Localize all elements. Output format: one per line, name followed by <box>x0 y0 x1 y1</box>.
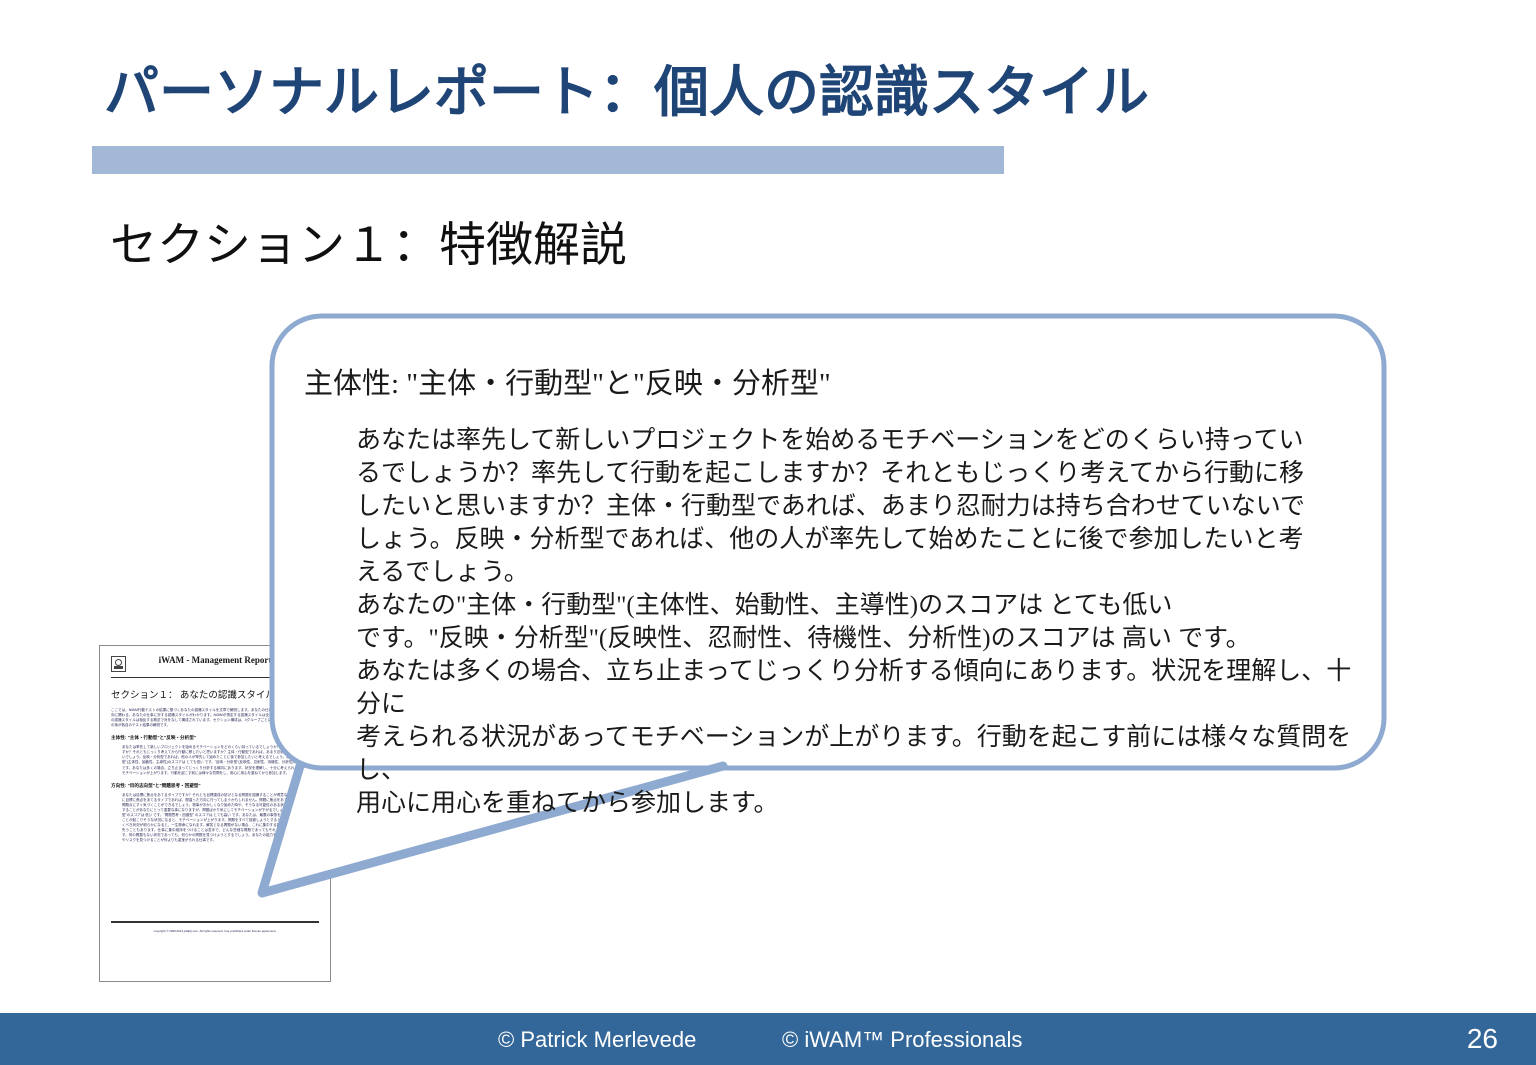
report-block2-body: あなたは目標に焦点をあてるタイプですか？それとも目標達成の妨げとなる問題を認識す… <box>111 793 319 844</box>
callout-line: あなたの"主体・行動型"(主体性、始動性、主導性)のスコアは とても低い <box>356 589 1366 622</box>
callout-line: しょう。反映・分析型であれば、他の人が率先して始めたことに後で参加したいと考 <box>356 523 1366 556</box>
callout-line: です。"反映・分析型"(反映性、忍耐性、待機性、分析性)のスコアは 高い です。 <box>356 622 1366 655</box>
callout-line: 用心に用心を重ねてから参加します。 <box>356 787 1366 820</box>
page-number: 26 <box>1467 1023 1498 1055</box>
report-block2-heading: 方向性: "目的志向型"と"問題思考・回避型" <box>111 783 319 789</box>
callout-line: えるでしょう。 <box>356 556 1366 589</box>
footer-copyright-left: © Patrick Merlevede <box>498 1027 696 1053</box>
report-footer-rule <box>111 921 319 923</box>
callout-line: したいと思いますか？主体・行動型であれば、あまり忍耐力は持ち合わせていないで <box>356 490 1366 523</box>
callout-line: るでしょうか？率先して行動を起こしますか？それともじっくり考えてから行動に移 <box>356 457 1366 490</box>
title-accent-bar <box>92 146 1004 174</box>
callout-paragraphs: あなたは率先して新しいプロジェクトを始めるモチベーションをどのくらい持ってい る… <box>356 424 1366 820</box>
callout-line: あなたは率先して新しいプロジェクトを始めるモチベーションをどのくらい持ってい <box>356 424 1366 457</box>
footer-copyright-right: © iWAM™ Professionals <box>782 1027 1022 1053</box>
callout-line: 考えられる状況があってモチベーションが上がります。行動を起こす前には様々な質問を… <box>356 721 1366 787</box>
slide-canvas: パーソナルレポート：個人の認識スタイル セクション１：特徴解説 iWAM - M… <box>0 0 1536 1065</box>
page-title: パーソナルレポート：個人の認識スタイル <box>104 62 1149 123</box>
callout-line: あなたは多くの場合、立ち止まってじっくり分析する傾向にあります。状況を理解し、十… <box>356 655 1366 721</box>
callout-title: 主体性: "主体・行動型"と"反映・分析型" <box>304 360 831 402</box>
section-heading: セクション１：特徴解説 <box>110 218 627 272</box>
report-copyright: copyright © 1999-2013 jobEQ.com. All rig… <box>111 929 319 933</box>
footer-bar: © Patrick Merlevede © iWAM™ Professional… <box>0 1013 1536 1065</box>
callout-bubble: 主体性: "主体・行動型"と"反映・分析型" あなたは率先して新しいプロジェクト… <box>272 316 1384 768</box>
